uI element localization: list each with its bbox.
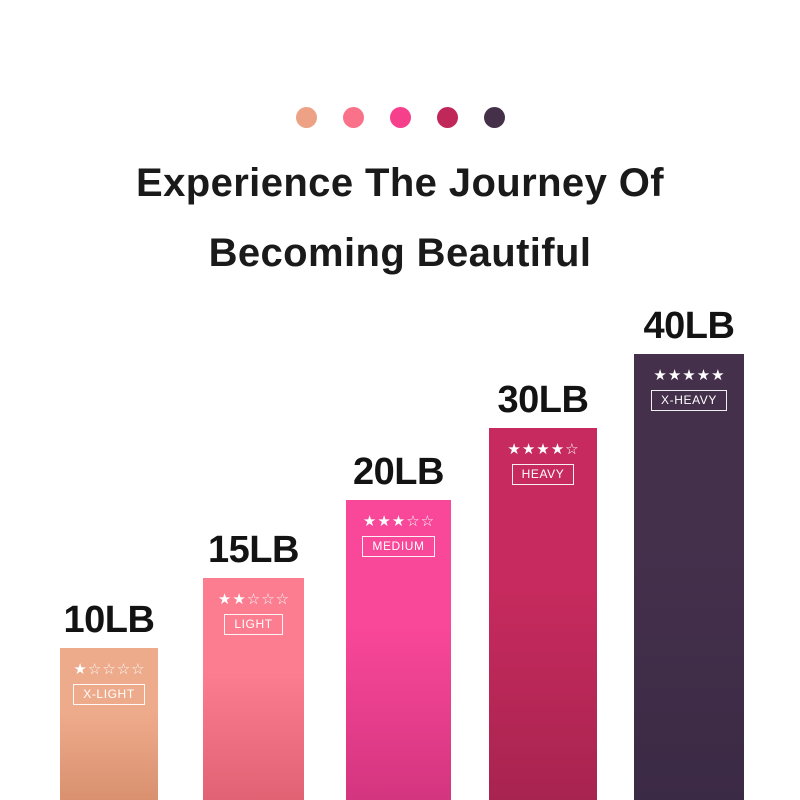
star-empty-icon: ☆ <box>276 592 289 607</box>
tier-badge-x-heavy: X-HEAVY <box>651 390 727 411</box>
star-empty-icon: ☆ <box>406 514 419 529</box>
rating-stars-medium: ★★★☆☆ <box>363 514 434 529</box>
star-filled-icon: ★ <box>697 368 710 383</box>
star-filled-icon: ★ <box>551 442 564 457</box>
bar-group-heavy[interactable]: 30LB★★★★☆HEAVY <box>489 428 597 800</box>
star-filled-icon: ★ <box>73 662 86 677</box>
tier-badge-heavy: HEAVY <box>512 464 575 485</box>
infographic-canvas: Experience The Journey Of Becoming Beaut… <box>0 0 800 800</box>
rating-stars-x-heavy: ★★★★★ <box>653 368 724 383</box>
star-empty-icon: ☆ <box>117 662 130 677</box>
bar-light[interactable]: ★★☆☆☆LIGHT <box>203 578 304 800</box>
bar-value-label-x-light: 10LB <box>64 599 155 642</box>
star-empty-icon: ☆ <box>421 514 434 529</box>
bar-content-heavy: ★★★★☆HEAVY <box>489 442 597 485</box>
star-empty-icon: ☆ <box>247 592 260 607</box>
bar-content-medium: ★★★☆☆MEDIUM <box>346 514 451 557</box>
bar-fill-x-heavy <box>634 354 744 800</box>
bar-medium[interactable]: ★★★☆☆MEDIUM <box>346 500 451 800</box>
resistance-band-bar-chart: 10LB★☆☆☆☆X-LIGHT15LB★★☆☆☆LIGHT20LB★★★☆☆M… <box>0 0 800 800</box>
star-empty-icon: ☆ <box>102 662 115 677</box>
star-filled-icon: ★ <box>668 368 681 383</box>
star-filled-icon: ★ <box>363 514 376 529</box>
bar-group-x-heavy[interactable]: 40LB★★★★★X-HEAVY <box>634 354 744 800</box>
star-filled-icon: ★ <box>653 368 666 383</box>
star-filled-icon: ★ <box>377 514 390 529</box>
bar-content-x-heavy: ★★★★★X-HEAVY <box>634 368 744 411</box>
bar-value-label-light: 15LB <box>208 529 299 572</box>
tier-badge-light: LIGHT <box>224 614 282 635</box>
rating-stars-x-light: ★☆☆☆☆ <box>73 662 144 677</box>
bar-value-label-heavy: 30LB <box>498 379 589 422</box>
bar-value-label-x-heavy: 40LB <box>644 305 735 348</box>
star-filled-icon: ★ <box>522 442 535 457</box>
star-empty-icon: ☆ <box>131 662 144 677</box>
star-filled-icon: ★ <box>218 592 231 607</box>
star-empty-icon: ☆ <box>261 592 274 607</box>
star-empty-icon: ☆ <box>565 442 578 457</box>
star-filled-icon: ★ <box>392 514 405 529</box>
star-filled-icon: ★ <box>232 592 245 607</box>
bar-content-light: ★★☆☆☆LIGHT <box>203 592 304 635</box>
bar-group-light[interactable]: 15LB★★☆☆☆LIGHT <box>203 578 304 800</box>
tier-badge-x-light: X-LIGHT <box>73 684 145 705</box>
bar-x-heavy[interactable]: ★★★★★X-HEAVY <box>634 354 744 800</box>
star-filled-icon: ★ <box>682 368 695 383</box>
star-filled-icon: ★ <box>507 442 520 457</box>
rating-stars-heavy: ★★★★☆ <box>507 442 578 457</box>
bar-value-label-medium: 20LB <box>353 451 444 494</box>
tier-badge-medium: MEDIUM <box>362 536 434 557</box>
star-filled-icon: ★ <box>711 368 724 383</box>
bar-heavy[interactable]: ★★★★☆HEAVY <box>489 428 597 800</box>
bar-content-x-light: ★☆☆☆☆X-LIGHT <box>60 662 158 705</box>
bar-group-medium[interactable]: 20LB★★★☆☆MEDIUM <box>346 500 451 800</box>
bar-x-light[interactable]: ★☆☆☆☆X-LIGHT <box>60 648 158 800</box>
star-filled-icon: ★ <box>536 442 549 457</box>
bar-group-x-light[interactable]: 10LB★☆☆☆☆X-LIGHT <box>60 648 158 800</box>
star-empty-icon: ☆ <box>88 662 101 677</box>
rating-stars-light: ★★☆☆☆ <box>218 592 289 607</box>
